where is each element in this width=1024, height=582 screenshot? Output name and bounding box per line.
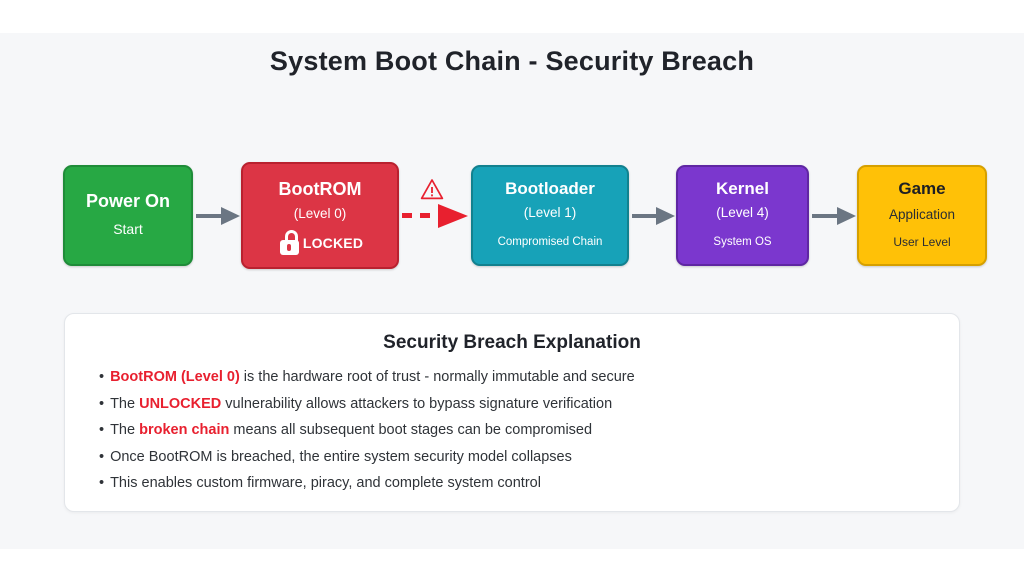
node-kernel[interactable]: Kernel (Level 4) System OS bbox=[676, 165, 809, 266]
bullet-text: This enables custom firmware, piracy, an… bbox=[110, 475, 541, 491]
explanation-bullet: •Once BootROM is breached, the entire sy… bbox=[99, 450, 959, 477]
node-game-subtitle: Application bbox=[889, 205, 955, 225]
boot-chain-flow: Power On Start BootROM (Level 0) LOCKED bbox=[0, 165, 1024, 267]
bullet-text: is the hardware root of trust - normally… bbox=[240, 369, 635, 385]
arrow-kernel-to-game bbox=[812, 207, 857, 225]
node-power-on[interactable]: Power On Start bbox=[63, 165, 193, 266]
explanation-bullet: •This enables custom firmware, piracy, a… bbox=[99, 476, 959, 503]
explanation-bullet-list: •BootROM (Level 0) is the hardware root … bbox=[99, 370, 959, 503]
explanation-bullet: •BootROM (Level 0) is the hardware root … bbox=[99, 370, 959, 397]
arrow-bootloader-to-kernel bbox=[632, 207, 676, 225]
node-bootloader[interactable]: Bootloader (Level 1) Compromised Chain bbox=[471, 165, 629, 266]
warning-triangle-icon bbox=[420, 178, 444, 200]
arrow-bootrom-to-bootloader-broken bbox=[402, 207, 471, 225]
node-kernel-note: System OS bbox=[713, 233, 771, 251]
node-game[interactable]: Game Application User Level bbox=[857, 165, 987, 266]
node-game-title: Game bbox=[898, 179, 945, 199]
arrow-head bbox=[837, 207, 856, 225]
arrow-head bbox=[221, 207, 240, 225]
node-kernel-subtitle: (Level 4) bbox=[716, 203, 769, 223]
page-title: System Boot Chain - Security Breach bbox=[0, 46, 1024, 77]
bullet-text: means all subsequent boot stages can be … bbox=[229, 422, 592, 438]
arrow-shaft bbox=[196, 214, 222, 218]
node-bootrom[interactable]: BootROM (Level 0) LOCKED bbox=[241, 162, 399, 269]
security-breach-explanation-panel: Security Breach Explanation •BootROM (Le… bbox=[64, 313, 960, 512]
arrow-head bbox=[656, 207, 675, 225]
bootrom-status: LOCKED bbox=[277, 230, 363, 256]
bootrom-status-label: LOCKED bbox=[303, 235, 363, 251]
explanation-bullet: •The broken chain means all subsequent b… bbox=[99, 423, 959, 450]
bullet-marker: • bbox=[99, 422, 104, 438]
node-power-on-subtitle: Start bbox=[113, 219, 143, 240]
bullet-marker: • bbox=[99, 475, 104, 491]
bullet-marker: • bbox=[99, 449, 104, 465]
arrow-shaft bbox=[812, 214, 838, 218]
bullet-highlight: UNLOCKED bbox=[139, 396, 221, 412]
node-bootrom-title: BootROM bbox=[279, 179, 362, 201]
bullet-marker: • bbox=[99, 369, 104, 385]
bullet-marker: • bbox=[99, 396, 104, 412]
diagram-canvas: System Boot Chain - Security Breach Powe… bbox=[0, 0, 1024, 582]
unlock-icon bbox=[277, 230, 303, 256]
node-bootloader-note: Compromised Chain bbox=[498, 233, 603, 251]
node-power-on-title: Power On bbox=[86, 191, 170, 213]
bullet-text: vulnerability allows attackers to bypass… bbox=[221, 396, 612, 412]
node-game-note: User Level bbox=[893, 233, 950, 252]
bullet-text: The bbox=[110, 422, 139, 438]
arrow-power-to-bootrom bbox=[196, 207, 241, 225]
node-bootloader-subtitle: (Level 1) bbox=[524, 203, 577, 223]
bullet-text: Once BootROM is breached, the entire sys… bbox=[110, 449, 572, 465]
bullet-text: The bbox=[110, 396, 139, 412]
broken-arrow-dashes bbox=[402, 213, 436, 218]
bullet-highlight: broken chain bbox=[139, 422, 229, 438]
node-bootloader-title: Bootloader bbox=[505, 179, 595, 199]
node-bootrom-subtitle: (Level 0) bbox=[294, 204, 347, 224]
node-kernel-title: Kernel bbox=[716, 179, 769, 199]
panel-title: Security Breach Explanation bbox=[65, 332, 959, 354]
bullet-highlight: BootROM (Level 0) bbox=[110, 369, 240, 385]
arrow-shaft bbox=[632, 214, 657, 218]
broken-arrow-head bbox=[438, 204, 468, 228]
explanation-bullet: •The UNLOCKED vulnerability allows attac… bbox=[99, 397, 959, 424]
